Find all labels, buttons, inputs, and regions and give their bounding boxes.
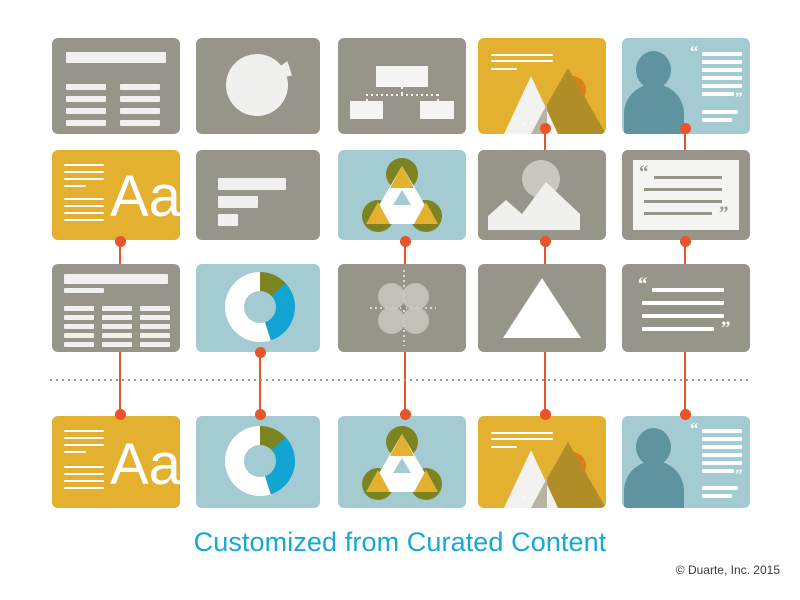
quote-open-icon: “ (638, 274, 648, 296)
venn-circle-top-right (402, 283, 429, 310)
slide-card-quote-panel[interactable]: “ ” (622, 150, 750, 240)
connector-dot-r2c4 (540, 236, 551, 247)
triad-gold-left (366, 202, 390, 224)
typography-sample: Aa (110, 436, 180, 494)
text-rule (64, 212, 104, 214)
quote-line (702, 52, 742, 56)
bar-3 (218, 214, 238, 226)
org-link-horizontal (366, 94, 438, 96)
table-cell (64, 324, 94, 329)
connector-dot-r4c4 (540, 409, 551, 420)
connector-dot-r4c3 (400, 409, 411, 420)
triad-triangle-inner (393, 458, 411, 473)
section-divider (50, 379, 750, 381)
slide-card-mountain-output[interactable]: ⌃⌃ (478, 416, 606, 508)
text-rule (64, 178, 104, 180)
table-title-bar (64, 274, 168, 284)
text-rule (64, 171, 104, 173)
attribution-line (702, 118, 732, 122)
table-cell (140, 324, 170, 329)
table-cell (102, 306, 132, 311)
quote-close-icon: ” (735, 90, 743, 107)
quote-open-icon: “ (690, 42, 699, 62)
typography-sample: Aa (110, 168, 180, 226)
triad-triangle-inner (393, 190, 411, 205)
triad-gold-right (414, 470, 438, 492)
attribution-line (702, 494, 732, 498)
table-cell (120, 108, 160, 114)
connector-dot-r2c5 (680, 236, 691, 247)
triad-gold-right (414, 202, 438, 224)
table-cell (140, 333, 170, 338)
connector-dot-r1c5 (680, 123, 691, 134)
table-cell (140, 306, 170, 311)
text-rule (64, 430, 104, 432)
landscape-mountains-icon (488, 172, 596, 230)
connector-r3c4-r4c4 (544, 352, 546, 414)
text-rule (64, 487, 104, 489)
quote-open-icon: “ (690, 419, 699, 439)
quote-line (642, 327, 714, 331)
slide-card-donut-output[interactable] (196, 416, 320, 508)
quote-line (702, 76, 742, 80)
table-cell (120, 96, 160, 102)
triad-gold-left (366, 470, 390, 492)
table-cell (140, 342, 170, 347)
pie-main-slice (226, 54, 288, 116)
slide-card-venn-quadrant[interactable] (338, 264, 466, 352)
headline-rule (491, 438, 553, 440)
text-rule (64, 437, 104, 439)
table-cell (64, 315, 94, 320)
table-cell (66, 84, 106, 90)
quote-line (702, 84, 742, 88)
slide-card-person-output[interactable]: “ ” (622, 416, 750, 508)
headline-rule (491, 446, 517, 448)
connector-dot-r1c4 (540, 123, 551, 134)
donut-hole (244, 445, 276, 477)
bar-1 (218, 178, 286, 190)
table-cell (120, 120, 160, 126)
copyright-notice: © Duarte, Inc. 2015 (676, 563, 780, 577)
quote-line (654, 176, 722, 179)
table-cell (120, 84, 160, 90)
quote-close-icon: ” (721, 318, 731, 340)
quote-line (644, 200, 722, 203)
quote-line (642, 314, 724, 318)
text-rule (64, 164, 104, 166)
quote-line (702, 92, 734, 96)
page-title: Customized from Curated Content (0, 527, 800, 558)
quote-close-icon: ” (735, 467, 743, 484)
quote-line (644, 212, 712, 215)
slide-card-two-column-table[interactable] (52, 38, 180, 134)
table-subtitle-bar (64, 288, 104, 293)
headline-rule (491, 60, 553, 62)
slide-card-donut-top[interactable] (196, 264, 320, 352)
slide-card-triad-output[interactable] (338, 416, 466, 508)
quote-line (702, 461, 742, 465)
slide-card-triad-top[interactable] (338, 150, 466, 240)
table-cell (64, 333, 94, 338)
table-cell (66, 120, 106, 126)
connector-dot-r4c2 (255, 409, 266, 420)
donut-hole (244, 291, 276, 323)
quote-line (702, 429, 742, 433)
quote-open-icon: “ (639, 162, 649, 184)
bird-icon: ⌃⌃ (521, 122, 536, 131)
person-shoulders (624, 84, 684, 134)
venn-circle-bottom-left (378, 307, 405, 334)
attribution-line (702, 486, 738, 490)
text-rule (64, 219, 104, 221)
connector-dot-r2c3 (400, 236, 411, 247)
quote-line (702, 469, 734, 473)
venn-center-dot (401, 305, 406, 310)
bar-2 (218, 196, 258, 208)
table-cell (102, 324, 132, 329)
connector-r3c1-r4c1 (119, 352, 121, 414)
table-cell (102, 315, 132, 320)
slide-card-person-quote[interactable]: “ ” (622, 38, 750, 134)
connector-dot-r4c5 (680, 409, 691, 420)
connector-dot-r2c1 (115, 236, 126, 247)
bird-icon: ⌃⌃ (521, 496, 536, 505)
slide-card-typography-output[interactable]: Aa (52, 416, 180, 508)
connector-r3c3-r4c3 (404, 352, 406, 414)
text-rule (64, 451, 86, 453)
slide-card-typography-top[interactable]: Aa (52, 150, 180, 240)
text-rule (64, 205, 104, 207)
headline-rule (491, 432, 553, 434)
table-cell (64, 306, 94, 311)
slide-card-mountain-photo[interactable]: ⌃⌃ (478, 38, 606, 134)
connector-r3c5-r4c5 (684, 352, 686, 414)
connector-dot-r3c2 (255, 347, 266, 358)
slide-card-bar-chart[interactable] (196, 150, 320, 240)
slide-card-quote-lines[interactable]: “ ” (622, 264, 750, 352)
triad-gold-top (390, 166, 414, 188)
slide-card-three-column-table[interactable] (52, 264, 180, 352)
triangle-shape-icon (503, 278, 581, 338)
attribution-line (702, 110, 738, 114)
slide-card-pie-chart[interactable] (196, 38, 320, 134)
table-header-bar (66, 52, 166, 63)
slide-card-landscape-photo[interactable] (478, 150, 606, 240)
quote-line (642, 301, 724, 305)
text-rule (64, 473, 104, 475)
quote-line (702, 68, 742, 72)
org-node-left (350, 101, 383, 119)
quote-line (702, 60, 742, 64)
pie-chart-icon (226, 54, 296, 124)
table-cell (64, 342, 94, 347)
text-rule (64, 466, 104, 468)
text-rule (64, 185, 86, 187)
text-rule (64, 444, 104, 446)
quote-line (702, 445, 742, 449)
quote-line (702, 453, 742, 457)
connector-r3c2-r4c2 (259, 352, 261, 414)
quote-close-icon: ” (719, 203, 729, 225)
person-shoulders (624, 461, 684, 508)
triad-gold-top (390, 434, 414, 456)
table-cell (66, 96, 106, 102)
table-cell (102, 342, 132, 347)
table-cell (102, 333, 132, 338)
slide-card-triangle[interactable] (478, 264, 606, 352)
org-node-right (420, 101, 454, 119)
org-node-top (376, 66, 428, 87)
text-rule (64, 198, 104, 200)
table-cell (140, 315, 170, 320)
quote-line (702, 437, 742, 441)
slide-card-org-chart[interactable] (338, 38, 466, 134)
connector-dot-r4c1 (115, 409, 126, 420)
headline-rule (491, 68, 517, 70)
quote-line (644, 188, 722, 191)
table-cell (66, 108, 106, 114)
headline-rule (491, 54, 553, 56)
infographic-canvas: ⌃⌃ “ ” Aa (0, 0, 800, 600)
venn-circle-bottom-right (402, 307, 429, 334)
quote-line (652, 288, 724, 292)
text-rule (64, 480, 104, 482)
